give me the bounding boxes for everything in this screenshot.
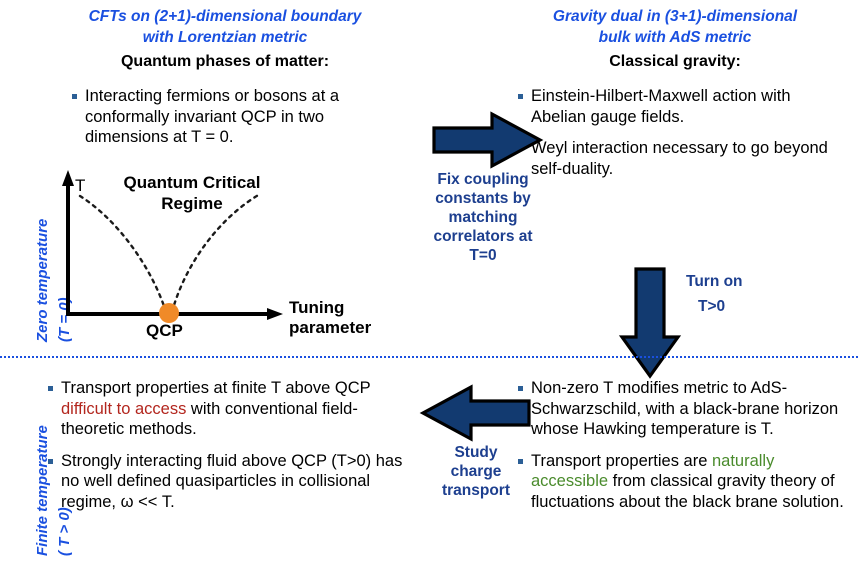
text-pre: Transport properties are bbox=[531, 452, 712, 470]
list-item-text: Transport properties at finite T above Q… bbox=[61, 378, 408, 440]
left-header-italic-line2: with Lorentzian metric bbox=[60, 27, 390, 48]
bullet-square-icon bbox=[518, 86, 531, 99]
bottom-left-bullet-list: Transport properties at finite T above Q… bbox=[48, 378, 408, 523]
list-item-text: Transport properties are naturally acces… bbox=[531, 451, 850, 513]
caption-line: Fix coupling bbox=[424, 170, 542, 189]
list-item-text: Weyl interaction necessary to go beyond … bbox=[531, 138, 848, 179]
x-axis-arrowhead bbox=[267, 308, 283, 320]
bullet-square-icon bbox=[48, 378, 61, 391]
list-item: Non-zero T modifies metric to AdS-Schwar… bbox=[518, 378, 850, 440]
list-item-text: Einstein-Hilbert-Maxwell action with Abe… bbox=[531, 86, 848, 127]
left-header-italic: CFTs on (2+1)-dimensional boundary with … bbox=[60, 6, 390, 48]
regime-title-line2: Regime bbox=[92, 193, 292, 214]
caption-line: charge bbox=[420, 462, 532, 481]
list-item: Transport properties at finite T above Q… bbox=[48, 378, 408, 440]
right-header-bold: Classical gravity: bbox=[510, 53, 840, 71]
list-item: Transport properties are naturally acces… bbox=[518, 451, 850, 513]
list-item: Interacting fermions or bosons at a conf… bbox=[72, 86, 402, 148]
list-item-text: Non-zero T modifies metric to AdS-Schwar… bbox=[531, 378, 850, 440]
list-item: Weyl interaction necessary to go beyond … bbox=[518, 138, 848, 179]
y-axis-label: T bbox=[75, 176, 85, 196]
caption-line: Study bbox=[420, 443, 532, 462]
bullet-square-icon bbox=[72, 86, 85, 99]
right-header-italic-line1: Gravity dual in (3+1)-dimensional bbox=[510, 6, 840, 27]
right-arrow-icon bbox=[430, 110, 545, 170]
caption-line: correlators at bbox=[424, 227, 542, 246]
caption-line: Turn on bbox=[686, 272, 786, 291]
y-axis-arrowhead bbox=[62, 170, 74, 186]
x-axis-label-line1: Tuning bbox=[289, 298, 399, 318]
left-header-italic-line1: CFTs on (2+1)-dimensional boundary bbox=[60, 6, 390, 27]
phase-diagram: Quantum Critical Regime T QCP Tuning par… bbox=[40, 158, 400, 358]
text-highlight-difficult-to-access: difficult to access bbox=[61, 400, 186, 418]
list-item-text: Strongly interacting fluid above QCP (T>… bbox=[61, 451, 408, 513]
arrow-study-charge-transport-caption: Study charge transport bbox=[420, 443, 532, 500]
x-axis-label-line2: parameter bbox=[289, 318, 399, 338]
right-header-italic-line2: bulk with AdS metric bbox=[510, 27, 840, 48]
arrow-turn-on-t bbox=[614, 265, 686, 380]
list-item: Einstein-Hilbert-Maxwell action with Abe… bbox=[518, 86, 848, 127]
regime-title-line1: Quantum Critical bbox=[92, 172, 292, 193]
bullet-square-icon bbox=[518, 378, 531, 391]
list-item: Strongly interacting fluid above QCP (T>… bbox=[48, 451, 408, 513]
right-header-italic: Gravity dual in (3+1)-dimensional bulk w… bbox=[510, 6, 840, 48]
caption-line-bold: T>0 bbox=[698, 297, 786, 316]
arrow-study-charge-transport bbox=[418, 383, 533, 443]
side-label-finite-temperature: Finite temperature ( T > 0) bbox=[4, 378, 44, 563]
bottom-right-bullet-list: Non-zero T modifies metric to AdS-Schwar… bbox=[518, 378, 850, 523]
side-label-zero-temperature: Zero temperature (T = 0) bbox=[4, 142, 44, 347]
caption-line: constants by bbox=[424, 189, 542, 208]
caption-line: matching bbox=[424, 208, 542, 227]
left-top-bullet-list: Interacting fermions or bosons at a conf… bbox=[72, 86, 402, 159]
bullet-square-icon bbox=[518, 451, 531, 464]
left-arrow-icon bbox=[418, 383, 533, 443]
caption-line-bold: T=0 bbox=[424, 246, 542, 265]
text-pre: Transport properties at finite T above Q… bbox=[61, 379, 370, 397]
arrow-turn-on-t-caption: Turn on T>0 bbox=[686, 272, 786, 316]
right-top-bullet-list: Einstein-Hilbert-Maxwell action with Abe… bbox=[518, 86, 848, 190]
section-divider bbox=[0, 356, 858, 358]
phase-diagram-regime-title: Quantum Critical Regime bbox=[92, 172, 292, 214]
arrow-fix-coupling-caption: Fix coupling constants by matching corre… bbox=[424, 170, 542, 265]
bullet-square-icon bbox=[48, 451, 61, 464]
list-item-text: Interacting fermions or bosons at a conf… bbox=[85, 86, 402, 148]
left-header-bold: Quantum phases of matter: bbox=[60, 53, 390, 71]
down-arrow-icon bbox=[614, 265, 686, 380]
qcp-point-marker bbox=[159, 303, 179, 323]
x-axis-label: Tuning parameter bbox=[289, 298, 399, 338]
qcp-label: QCP bbox=[146, 321, 183, 341]
caption-line: transport bbox=[420, 481, 532, 500]
diagram-canvas: CFTs on (2+1)-dimensional boundary with … bbox=[0, 0, 858, 563]
arrow-fix-coupling bbox=[430, 110, 545, 170]
